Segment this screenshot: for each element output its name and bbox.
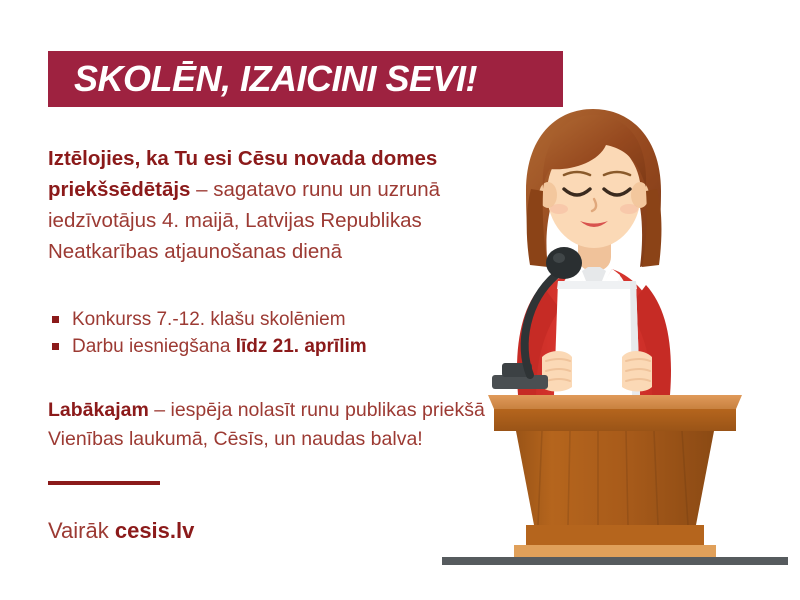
divider-rule [48, 481, 160, 485]
poster-canvas: SKOLĒN, IZAICINI SEVI! Iztēlojies, ka Tu… [0, 0, 800, 600]
footer-line: Vairāk cesis.lv [48, 518, 194, 544]
podium [488, 395, 742, 557]
illustration-woman-at-podium [430, 95, 800, 565]
footer-website[interactable]: cesis.lv [115, 518, 195, 543]
footer-prefix: Vairāk [48, 518, 115, 543]
closing-bold-lead: Labākajam [48, 399, 149, 421]
bullet-text: Konkurss 7.-12. klašu skolēniem [72, 309, 346, 330]
bullet-bold-tail: līdz 21. aprīlim [236, 336, 367, 357]
platform-base [442, 557, 788, 565]
bullet-text: Darbu iesniegšana [72, 336, 236, 357]
poster-title: SKOLĒN, IZAICINI SEVI! [48, 58, 477, 100]
